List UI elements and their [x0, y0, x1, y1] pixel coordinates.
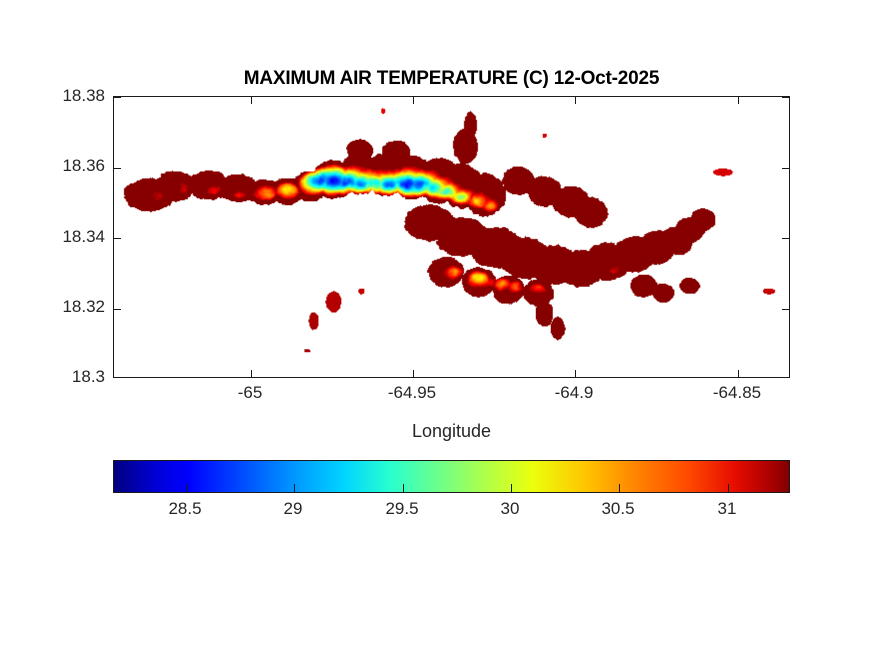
y-axis-tick-text: 18.38 — [62, 86, 105, 106]
colorbar-tick — [511, 484, 512, 492]
colorbar-tick-label: 31 — [718, 499, 737, 519]
x-axis-tick-label: -64.9 — [555, 383, 594, 403]
map-axes — [113, 96, 790, 378]
x-tick-major — [251, 370, 252, 377]
x-tick-major — [251, 97, 252, 104]
y-axis-tick-text: 18.36 — [62, 156, 105, 176]
x-tick-major — [738, 97, 739, 104]
figure-canvas: MAXIMUM AIR TEMPERATURE (C) 12-Oct-2025 … — [0, 0, 875, 656]
y-axis-tick-label: 18.3 — [105, 367, 138, 387]
y-tick-major — [782, 238, 789, 239]
y-tick-major — [782, 309, 789, 310]
y-axis-tick-text: 18.3 — [72, 367, 105, 387]
x-tick-major — [413, 97, 414, 104]
x-tick-major — [738, 370, 739, 377]
colorbar-tick-label: 29 — [284, 499, 303, 519]
x-tick-major — [575, 97, 576, 104]
x-axis-tick-label: -64.95 — [388, 383, 436, 403]
colorbar-tick — [728, 484, 729, 492]
page-title: MAXIMUM AIR TEMPERATURE (C) 12-Oct-2025 — [113, 68, 790, 90]
colorbar-tick-label: 28.5 — [168, 499, 201, 519]
y-tick-major — [782, 168, 789, 169]
y-axis-tick-label: 18.32 — [105, 297, 148, 317]
x-axis-label: Longitude — [113, 421, 790, 442]
y-axis-tick-label: 18.38 — [105, 86, 148, 106]
colorbar-tick-label: 29.5 — [385, 499, 418, 519]
temperature-raster — [114, 97, 789, 377]
y-axis-tick-label: 18.36 — [105, 156, 148, 176]
colorbar-tick — [186, 484, 187, 492]
colorbar-tick — [294, 484, 295, 492]
colorbar — [113, 460, 790, 493]
x-tick-major — [575, 370, 576, 377]
colorbar-tick — [619, 484, 620, 492]
x-axis-tick-label: -64.85 — [713, 383, 761, 403]
y-axis-tick-label: 18.34 — [105, 227, 148, 247]
y-tick-major — [782, 97, 789, 98]
colorbar-tick-label: 30 — [501, 499, 520, 519]
y-axis-tick-text: 18.34 — [62, 227, 105, 247]
x-tick-major — [413, 370, 414, 377]
colorbar-tick-label: 30.5 — [601, 499, 634, 519]
y-axis-tick-text: 18.32 — [62, 297, 105, 317]
x-axis-tick-label: -65 — [238, 383, 263, 403]
colorbar-tick — [403, 484, 404, 492]
